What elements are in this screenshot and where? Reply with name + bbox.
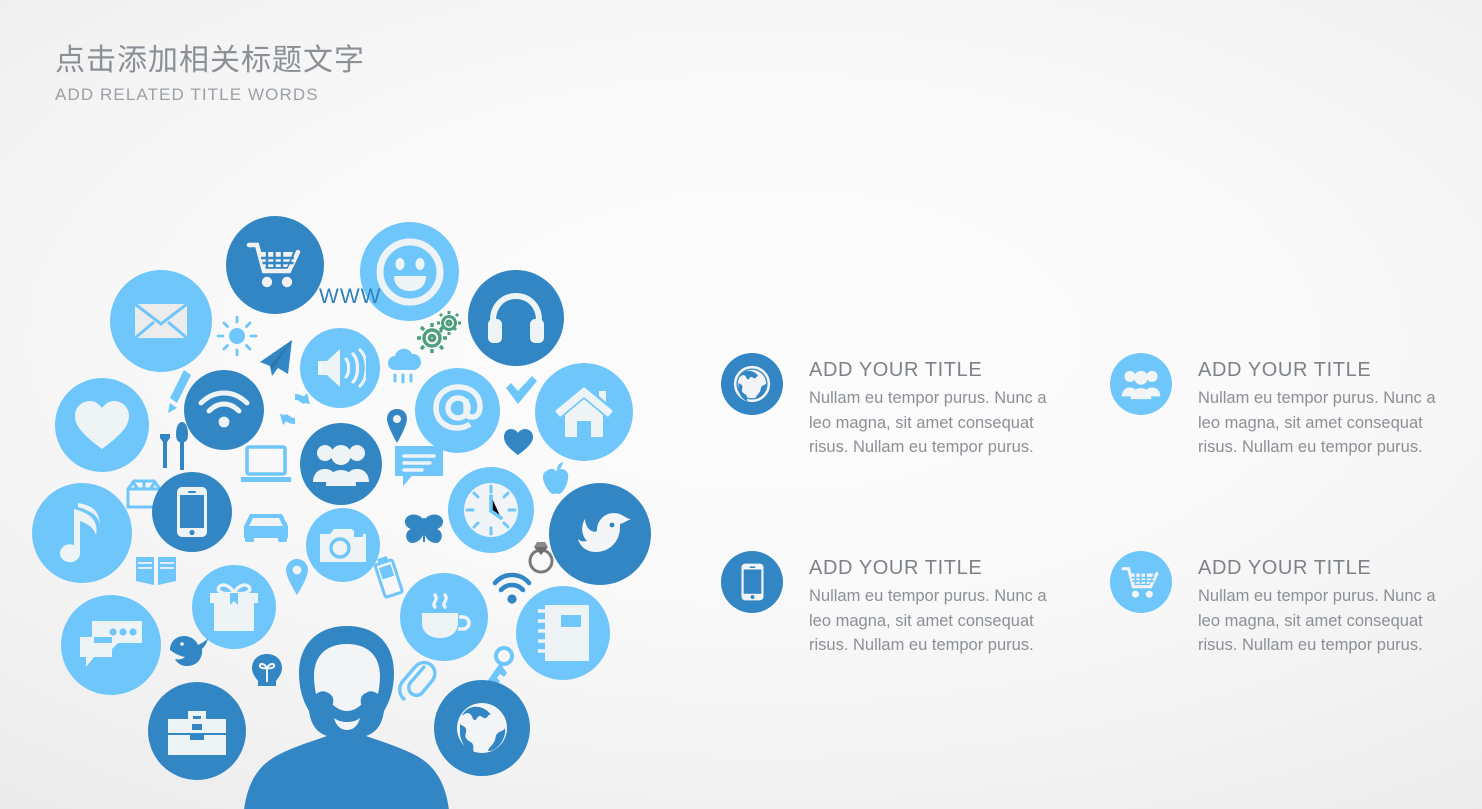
feature-text-1: ADD YOUR TITLE Nullam eu tempor purus. N… <box>1198 353 1443 460</box>
smartphone-icon <box>152 472 232 552</box>
feature-body-0: Nullam eu tempor purus. Nunc a leo magna… <box>809 386 1054 460</box>
house-icon <box>535 363 633 461</box>
feature-text-0: ADD YOUR TITLE Nullam eu tempor purus. N… <box>809 353 1054 460</box>
smartphone-icon <box>721 551 783 613</box>
feature-body-3: Nullam eu tempor purus. Nunc a leo magna… <box>1198 584 1443 658</box>
rain-cloud-icon <box>385 348 425 388</box>
cutlery-icon <box>156 420 190 470</box>
notebook-icon <box>516 586 610 680</box>
clock-icon <box>448 467 534 553</box>
globe-icon <box>721 353 783 415</box>
icon-cluster: WWW <box>0 0 700 809</box>
laptop-icon <box>240 445 292 485</box>
wifi-small-icon <box>492 573 532 605</box>
feature-title-1: ADD YOUR TITLE <box>1198 357 1443 383</box>
feature-title-3: ADD YOUR TITLE <box>1198 555 1443 581</box>
paper-plane-icon <box>256 336 296 378</box>
feature-item-2[interactable]: ADD YOUR TITLE Nullam eu tempor purus. N… <box>721 551 1054 658</box>
www-label: WWW <box>319 285 381 309</box>
bird-large-icon <box>549 483 651 585</box>
person-avatar-icon <box>244 622 449 809</box>
feature-text-2: ADD YOUR TITLE Nullam eu tempor purus. N… <box>809 551 1054 658</box>
feature-item-3[interactable]: ADD YOUR TITLE Nullam eu tempor purus. N… <box>1110 551 1443 658</box>
chat-bubble-icon <box>392 443 446 489</box>
slide-canvas: 点击添加相关标题文字 ADD RELATED TITLE WORDS <box>0 0 1482 809</box>
map-pin-icon <box>385 408 409 444</box>
shopping-cart-icon <box>1110 551 1172 613</box>
music-note-icon <box>32 483 132 583</box>
at-sign-icon <box>415 368 500 453</box>
feature-title-0: ADD YOUR TITLE <box>809 357 1054 383</box>
feature-title-2: ADD YOUR TITLE <box>809 555 1054 581</box>
sun-icon <box>216 315 258 357</box>
envelope-icon <box>110 270 212 372</box>
bird-small-icon <box>168 634 210 668</box>
ring-icon <box>524 537 558 575</box>
book-icon <box>134 555 178 589</box>
refresh-icon <box>276 390 314 428</box>
briefcase-icon <box>148 682 246 780</box>
butterfly-icon <box>403 513 445 545</box>
battery-icon <box>374 555 406 597</box>
people-group-icon <box>1110 353 1172 415</box>
car-icon <box>240 510 292 544</box>
checkmark-icon <box>503 374 539 406</box>
chat-bubbles-icon <box>61 595 161 695</box>
feature-body-1: Nullam eu tempor purus. Nunc a leo magna… <box>1198 386 1443 460</box>
people-group-icon <box>300 423 382 505</box>
headphones-icon <box>468 270 564 366</box>
wifi-icon <box>184 370 264 450</box>
feature-body-2: Nullam eu tempor purus. Nunc a leo magna… <box>809 584 1054 658</box>
small-heart-icon <box>503 428 533 456</box>
feature-item-0[interactable]: ADD YOUR TITLE Nullam eu tempor purus. N… <box>721 353 1054 460</box>
camera-icon <box>306 508 380 582</box>
heart-icon <box>55 378 149 472</box>
map-pin-small-icon <box>284 558 310 596</box>
shopping-cart-icon <box>226 216 324 314</box>
feature-text-3: ADD YOUR TITLE Nullam eu tempor purus. N… <box>1198 551 1443 658</box>
apple-icon <box>541 462 571 496</box>
feature-item-1[interactable]: ADD YOUR TITLE Nullam eu tempor purus. N… <box>1110 353 1443 460</box>
